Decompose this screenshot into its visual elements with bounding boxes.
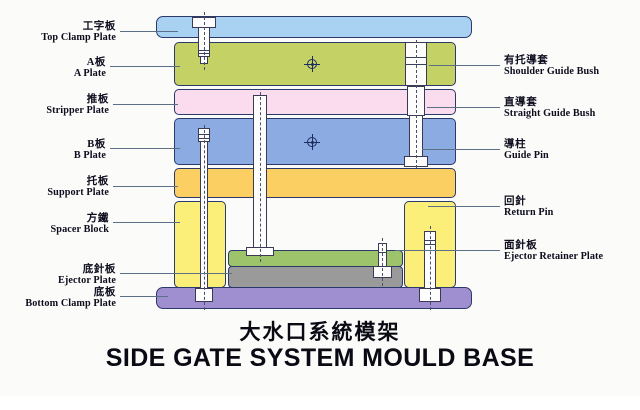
label-bottom-clamp-plate: 底板 Bottom Clamp Plate — [25, 288, 116, 310]
label-ejector-plate: 底針板 Ejector Plate — [58, 265, 116, 287]
label-stripper-plate-en: Stripper Plate — [46, 106, 109, 117]
part-support-plate — [174, 168, 456, 198]
label-b-plate-en: B Plate — [74, 151, 106, 162]
diagram-page: 工字板 Top Clamp Plate A板 A Plate 推板 Stripp… — [0, 0, 640, 410]
label-spacer-block: 方鐵 Spacer Block — [51, 214, 109, 236]
label-top-clamp-plate-en: Top Clamp Plate — [41, 33, 116, 44]
title-chinese: 大水口系統模架 — [0, 316, 640, 346]
label-b-plate: B板 B Plate — [74, 140, 106, 162]
label-a-plate-en: A Plate — [74, 69, 106, 80]
center-mark-b-plate — [304, 134, 320, 150]
leader-return-pin — [428, 206, 500, 207]
leader-b-plate — [110, 148, 180, 149]
leader-guide-pin — [422, 149, 500, 150]
label-bottom-clamp-plate-en: Bottom Clamp Plate — [25, 299, 116, 310]
label-return-pin-en: Return Pin — [504, 208, 553, 219]
label-top-clamp-plate: 工字板 Top Clamp Plate — [41, 22, 116, 44]
leader-ejector-retainer-plate — [395, 250, 500, 251]
ejector-pin-2-centerline — [382, 238, 383, 286]
leader-ejector-plate — [120, 273, 232, 274]
return-pin-centerline — [430, 226, 431, 310]
center-mark-a-plate — [304, 56, 320, 72]
leader-top-clamp-plate — [120, 31, 178, 32]
sprue-centerline — [204, 12, 205, 70]
label-shoulder-guide-bush-en: Shoulder Guide Bush — [504, 67, 599, 78]
support-pillar-centerline — [260, 92, 261, 262]
title-english: SIDE GATE SYSTEM MOULD BASE — [0, 344, 640, 373]
label-a-plate: A板 A Plate — [74, 58, 106, 80]
ejector-pin-centerline — [204, 125, 205, 310]
label-straight-guide-bush: 直導套 Straight Guide Bush — [504, 98, 595, 120]
label-spacer-block-en: Spacer Block — [51, 225, 109, 236]
label-support-plate-en: Support Plate — [47, 188, 109, 199]
leader-spacer-block — [113, 222, 180, 223]
leader-bottom-clamp-plate — [120, 296, 168, 297]
leader-straight-guide-bush — [427, 107, 500, 108]
leader-support-plate — [113, 186, 178, 187]
label-ejector-retainer-plate-en: Ejector Retainer Plate — [504, 252, 603, 263]
label-ejector-plate-en: Ejector Plate — [58, 276, 116, 287]
label-support-plate: 托板 Support Plate — [47, 177, 109, 199]
bottom-white-band — [0, 396, 640, 410]
label-guide-pin-en: Guide Pin — [504, 151, 549, 162]
label-shoulder-guide-bush: 有托導套 Shoulder Guide Bush — [504, 56, 599, 78]
leader-a-plate — [110, 66, 180, 67]
leader-stripper-plate — [113, 104, 178, 105]
label-ejector-retainer-plate: 面針板 Ejector Retainer Plate — [504, 241, 603, 263]
label-return-pin: 回針 Return Pin — [504, 197, 553, 219]
label-stripper-plate: 推板 Stripper Plate — [46, 95, 109, 117]
leader-shoulder-guide-bush — [429, 65, 500, 66]
label-straight-guide-bush-en: Straight Guide Bush — [504, 109, 595, 120]
label-guide-pin: 導柱 Guide Pin — [504, 140, 549, 162]
guide-pin-centerline — [416, 40, 417, 168]
